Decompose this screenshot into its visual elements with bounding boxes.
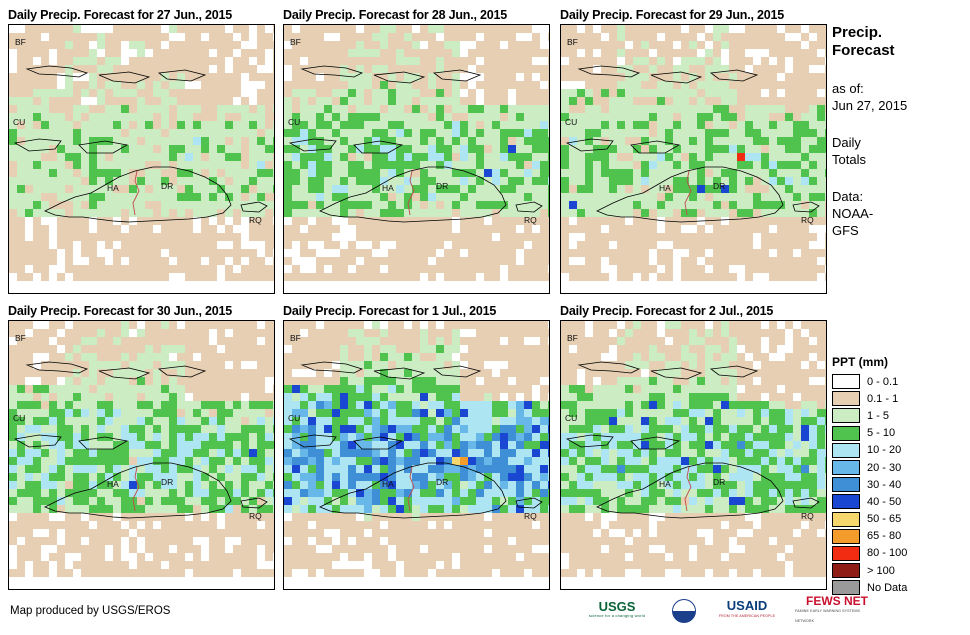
panel-title: Daily Precip. Forecast for 2 Jul., 2015	[560, 304, 773, 318]
legend-label: 80 - 100	[867, 547, 907, 559]
map-label-dr: DR	[713, 477, 725, 487]
legend-row: 10 - 20	[832, 442, 964, 459]
legend-row: 20 - 30	[832, 459, 964, 476]
map-label-bf: BF	[15, 37, 26, 47]
coastline-overlay	[9, 321, 275, 590]
legend-swatch	[832, 374, 860, 389]
precip-map-panel-1[interactable]: BFCUHADRRQ	[8, 24, 275, 294]
legend-row: 50 - 65	[832, 511, 964, 528]
legend-swatch	[832, 546, 860, 561]
map-label-dr: DR	[161, 181, 173, 191]
usaid-logo-sub: FROM THE AMERICAN PEOPLE	[719, 611, 775, 621]
map-label-cu: CU	[13, 117, 25, 127]
legend-label: 1 - 5	[867, 410, 889, 422]
map-label-ha: HA	[382, 183, 394, 193]
map-label-rq: RQ	[801, 511, 814, 521]
legend-swatch	[832, 494, 860, 509]
precip-map-panel-2[interactable]: BFCUHADRRQ	[283, 24, 550, 294]
map-label-bf: BF	[290, 37, 301, 47]
map-label-rq: RQ	[249, 215, 262, 225]
sidebar-title-line1: Precip.	[832, 24, 970, 42]
sidebar-totals-line2: Totals	[832, 151, 970, 168]
sidebar: Precip. Forecast as of: Jun 27, 2015 Dai…	[832, 24, 970, 239]
legend-row: > 100	[832, 562, 964, 579]
map-label-dr: DR	[436, 181, 448, 191]
legend-row: 0.1 - 1	[832, 390, 964, 407]
legend-label: 5 - 10	[867, 427, 895, 439]
legend-label: 0.1 - 1	[867, 393, 898, 405]
map-label-cu: CU	[565, 117, 577, 127]
credit-text: Map produced by USGS/EROS	[10, 605, 170, 617]
legend-label: 40 - 50	[867, 496, 901, 508]
panel-title: Daily Precip. Forecast for 28 Jun., 2015	[283, 8, 507, 22]
map-label-ha: HA	[659, 479, 671, 489]
noaa-logo	[669, 598, 699, 624]
legend-label: 10 - 20	[867, 444, 901, 456]
legend-row: 5 - 10	[832, 425, 964, 442]
usgs-logo-sub: science for a changing world	[589, 611, 645, 620]
panel-title: Daily Precip. Forecast for 1 Jul., 2015	[283, 304, 496, 318]
legend-title: PPT (mm)	[832, 355, 964, 369]
fewsnet-logo-sub: FAMINE EARLY WARNING SYSTEMS NETWORK	[795, 606, 879, 626]
legend-swatch	[832, 512, 860, 527]
usgs-logo-main: USGS	[599, 602, 636, 611]
legend-swatch	[832, 426, 860, 441]
map-label-dr: DR	[436, 477, 448, 487]
coastline-overlay	[284, 321, 550, 590]
precip-map-panel-4[interactable]: BFCUHADRRQ	[8, 320, 275, 590]
sidebar-data-line3: GFS	[832, 222, 970, 239]
map-label-bf: BF	[567, 37, 578, 47]
map-label-bf: BF	[290, 333, 301, 343]
legend-row: 0 - 0.1	[832, 373, 964, 390]
map-label-cu: CU	[13, 413, 25, 423]
sidebar-data-line2: NOAA-	[832, 205, 970, 222]
sidebar-data-line1: Data:	[832, 188, 970, 205]
legend-label: > 100	[867, 565, 895, 577]
map-label-ha: HA	[107, 183, 119, 193]
map-label-bf: BF	[15, 333, 26, 343]
usaid-logo-main: USAID	[727, 601, 767, 611]
legend-swatch	[832, 408, 860, 423]
legend-swatch	[832, 563, 860, 578]
map-label-rq: RQ	[249, 511, 262, 521]
legend-label: 20 - 30	[867, 462, 901, 474]
noaa-seal-icon	[670, 598, 698, 624]
legend-swatch	[832, 529, 860, 544]
legend-row: 1 - 5	[832, 407, 964, 424]
sidebar-asof-label: as of:	[832, 80, 970, 97]
legend-swatch	[832, 477, 860, 492]
legend-swatch	[832, 460, 860, 475]
fewsnet-logo-main: FEWS NET	[806, 596, 868, 606]
legend-label: 50 - 65	[867, 513, 901, 525]
map-label-bf: BF	[567, 333, 578, 343]
legend-label: 30 - 40	[867, 479, 901, 491]
legend-label: 65 - 80	[867, 530, 901, 542]
legend: PPT (mm) 0 - 0.10.1 - 11 - 55 - 1010 - 2…	[832, 355, 964, 596]
coastline-overlay	[561, 25, 827, 294]
usaid-logo: USAID FROM THE AMERICAN PEOPLE	[708, 598, 786, 624]
map-label-rq: RQ	[524, 215, 537, 225]
map-label-dr: DR	[161, 477, 173, 487]
panel-title: Daily Precip. Forecast for 30 Jun., 2015	[8, 304, 232, 318]
map-label-rq: RQ	[801, 215, 814, 225]
precip-map-panel-3[interactable]: BFCUHADRRQ	[560, 24, 827, 294]
legend-row: 80 - 100	[832, 545, 964, 562]
legend-row: 30 - 40	[832, 476, 964, 493]
legend-swatch	[832, 391, 860, 406]
panel-title: Daily Precip. Forecast for 27 Jun., 2015	[8, 8, 232, 22]
usgs-logo: USGS science for a changing world	[574, 598, 660, 624]
map-label-cu: CU	[288, 117, 300, 127]
sidebar-totals-line1: Daily	[832, 134, 970, 151]
coastline-overlay	[284, 25, 550, 294]
legend-label: No Data	[867, 582, 907, 594]
map-label-cu: CU	[565, 413, 577, 423]
logo-bar: USGS science for a changing world USAID …	[574, 598, 879, 624]
sidebar-asof-date: Jun 27, 2015	[832, 97, 970, 114]
coastline-overlay	[561, 321, 827, 590]
map-label-dr: DR	[713, 181, 725, 191]
map-label-rq: RQ	[524, 511, 537, 521]
legend-row: 40 - 50	[832, 493, 964, 510]
map-label-cu: CU	[288, 413, 300, 423]
panel-title: Daily Precip. Forecast for 29 Jun., 2015	[560, 8, 784, 22]
fewsnet-logo: FEWS NET FAMINE EARLY WARNING SYSTEMS NE…	[795, 598, 879, 624]
precip-map-panel-5[interactable]: BFCUHADRRQ	[283, 320, 550, 590]
legend-row: 65 - 80	[832, 528, 964, 545]
sidebar-title-line2: Forecast	[832, 42, 970, 60]
legend-swatch	[832, 443, 860, 458]
map-label-ha: HA	[659, 183, 671, 193]
coastline-overlay	[9, 25, 275, 294]
map-label-ha: HA	[382, 479, 394, 489]
precip-map-panel-6[interactable]: BFCUHADRRQ	[560, 320, 827, 590]
map-label-ha: HA	[107, 479, 119, 489]
legend-label: 0 - 0.1	[867, 376, 898, 388]
